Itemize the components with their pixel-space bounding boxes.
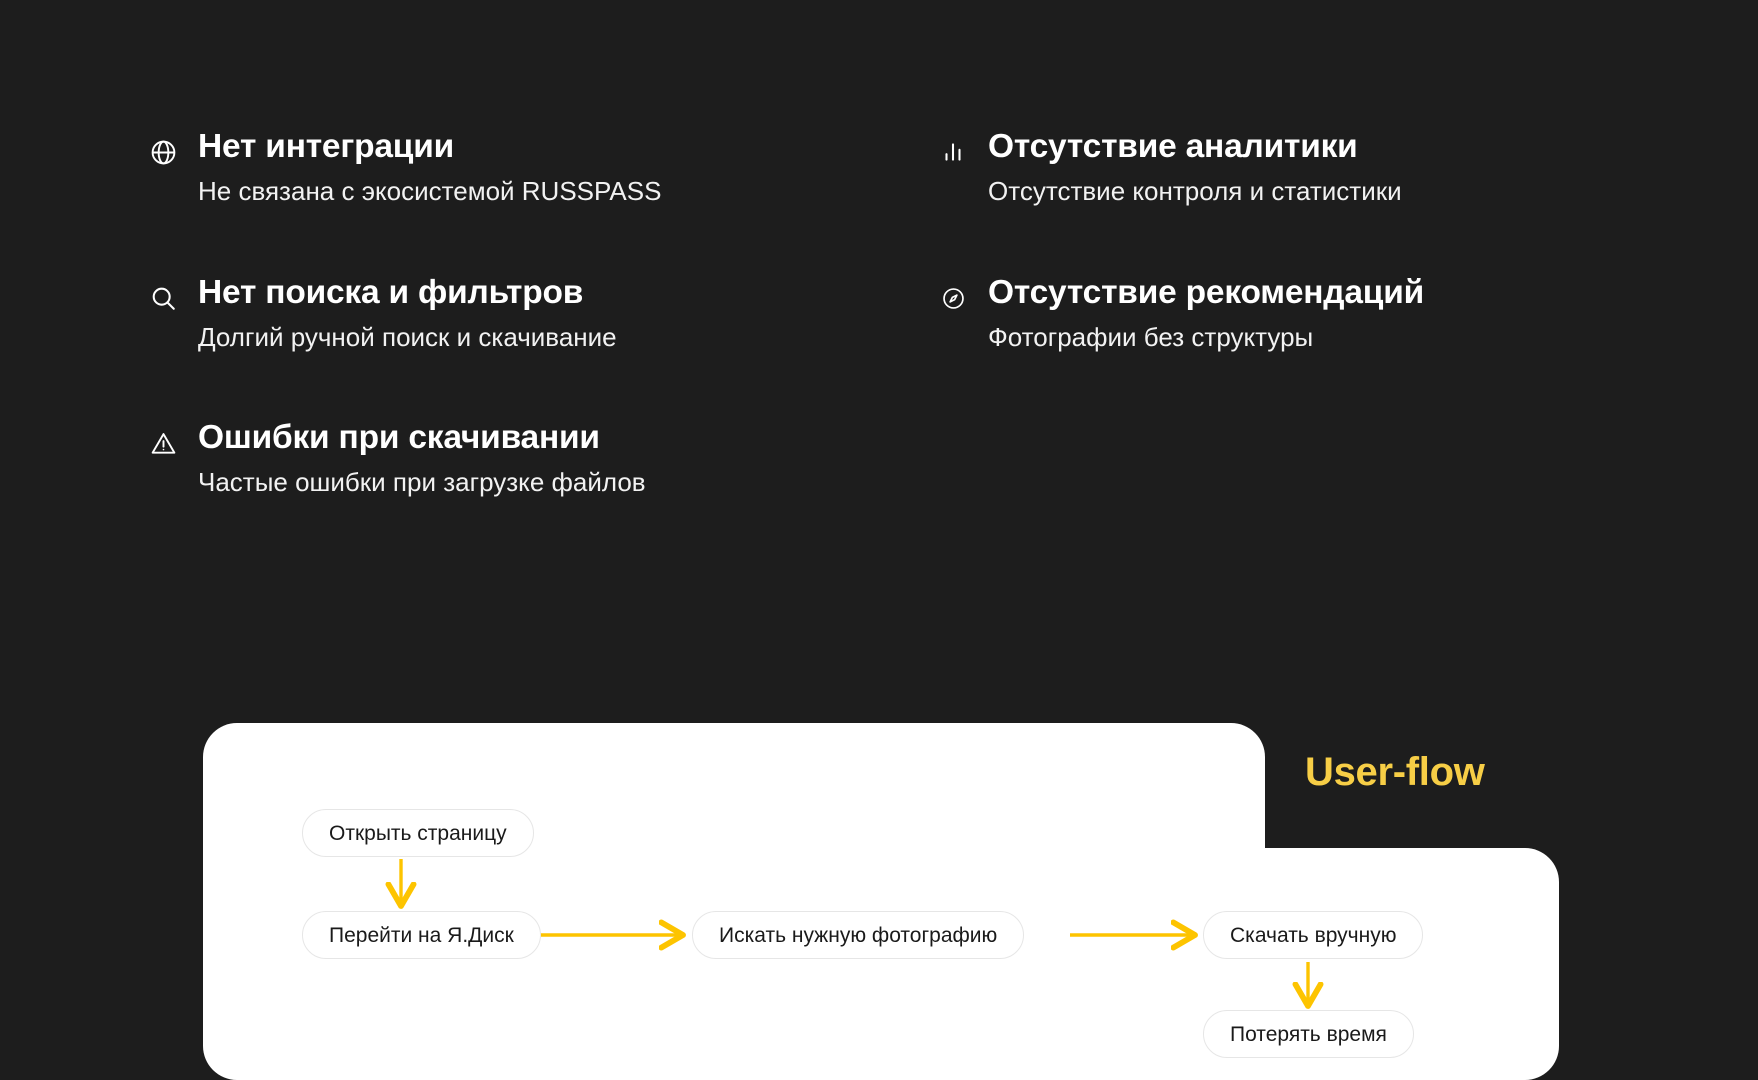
problem-title: Ошибки при скачивании [198,419,888,458]
compass-icon [938,283,968,313]
flow-node-waste-time[interactable]: Потерять время [1203,1010,1414,1058]
userflow-title: User-flow [1305,750,1485,795]
search-icon [148,283,178,313]
problem-subtitle: Отсутствие контроля и статистики [988,176,1638,207]
problem-subtitle: Долгий ручной поиск и скачивание [198,322,888,353]
problem-text: Ошибки при скачивании Частые ошибки при … [198,419,888,498]
problem-text: Нет интеграции Не связана с экосистемой … [198,128,888,207]
bar-chart-icon [938,137,968,167]
problem-title: Отсутствие рекомендаций [988,274,1638,313]
problem-title: Отсутствие аналитики [988,128,1638,167]
problem-text: Отсутствие аналитики Отсутствие контроля… [988,128,1638,207]
problem-subtitle: Фотографии без структуры [988,322,1638,353]
flow-node-search-photo[interactable]: Искать нужную фотографию [692,911,1024,959]
flow-node-open-page[interactable]: Открыть страницу [302,809,534,857]
problem-title: Нет интеграции [198,128,888,167]
problem-title: Нет поиска и фильтров [198,274,888,313]
globe-icon [148,137,178,167]
problem-subtitle: Не связана с экосистемой RUSSPASS [198,176,888,207]
problem-text: Отсутствие рекомендаций Фотографии без с… [988,274,1638,353]
flow-node-download-manually[interactable]: Скачать вручную [1203,911,1423,959]
problem-subtitle: Частые ошибки при загрузке файлов [198,467,888,498]
warning-triangle-icon [148,428,178,458]
flow-node-go-to-yadisk[interactable]: Перейти на Я.Диск [302,911,541,959]
problem-text: Нет поиска и фильтров Долгий ручной поис… [198,274,888,353]
